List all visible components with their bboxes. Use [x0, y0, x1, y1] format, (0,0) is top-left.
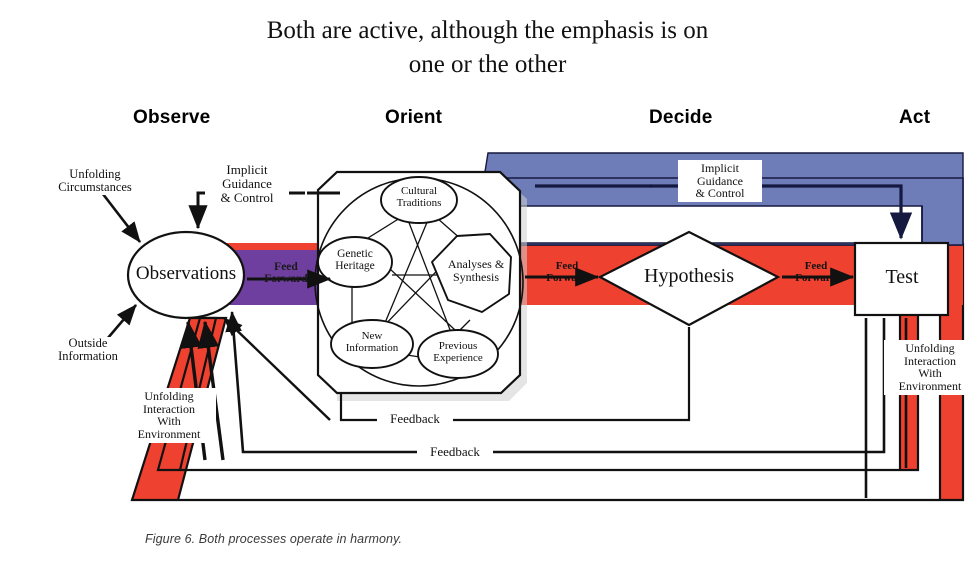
- new-information-label: New Information: [333, 331, 411, 354]
- blue-band-inner-return: [512, 206, 922, 243]
- unfolding-circumstances-label: Unfolding Circumstances: [42, 168, 148, 195]
- ooda-figure: Both are active, although the emphasis i…: [0, 0, 975, 581]
- feed-forward-label-1: Feed Forward: [258, 261, 314, 285]
- implicit-guidance-left-label: Implicit Guidance & Control: [205, 163, 289, 204]
- outside-information-label: Outside Information: [42, 337, 134, 364]
- feed-forward-label-2: Feed Forward: [541, 261, 593, 284]
- cultural-traditions-label: Cultural Traditions: [386, 186, 452, 209]
- unfolding-interaction-right-label: Unfolding Interaction With Environment: [884, 340, 975, 395]
- feedback-lower-label: Feedback: [417, 444, 493, 460]
- observations-label: Observations: [131, 264, 241, 284]
- feedback-upper-label: Feedback: [377, 412, 453, 426]
- previous-experience-label: Previous Experience: [419, 341, 497, 364]
- unfolding-interaction-left-label: Unfolding Interaction With Environment: [122, 388, 216, 443]
- genetic-heritage-label: Genetic Heritage: [322, 248, 388, 272]
- ooda-loop-diagram: [0, 0, 975, 581]
- figure-caption: Figure 6. Both processes operate in harm…: [145, 532, 402, 546]
- test-label: Test: [862, 267, 942, 288]
- implicit-guidance-right-label: Implicit Guidance & Control: [678, 160, 762, 202]
- feed-forward-label-3: Feed Forward: [790, 261, 842, 284]
- analyses-synthesis-label: Analyses & Synthesis: [434, 258, 518, 283]
- hypothesis-label: Hypothesis: [633, 266, 745, 287]
